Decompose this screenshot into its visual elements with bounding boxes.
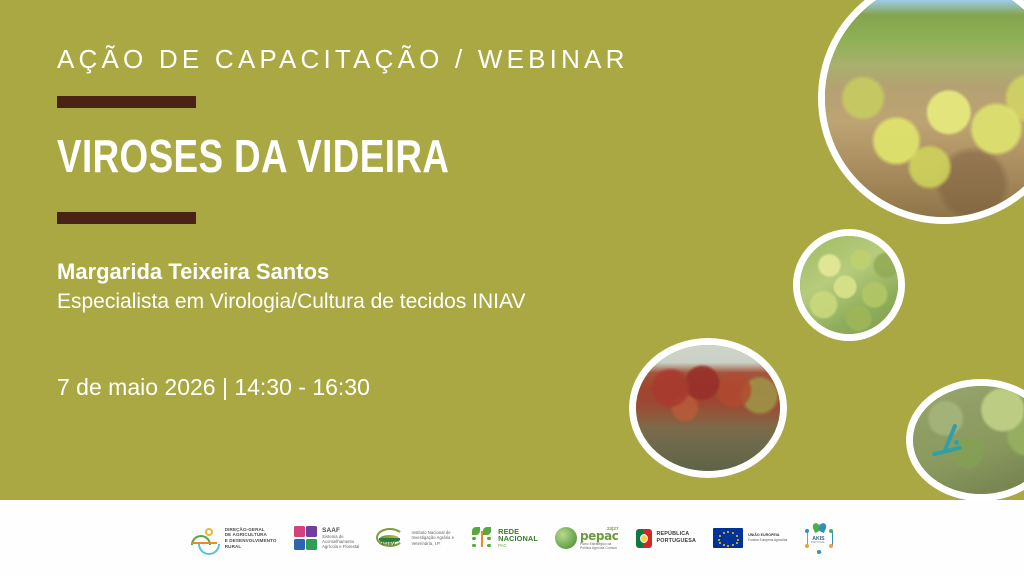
- dgadr-wordmark: DIREÇÃO-GERAL DE AGRICULTURA E DESENVOLV…: [225, 527, 277, 549]
- dgadr-line-3: E DESENVOLVIMENTO: [225, 538, 277, 544]
- logo-akis: AKIS PORTUGAL: [804, 523, 834, 553]
- dgadr-line-4: RURAL: [225, 544, 277, 550]
- logo-uniao-europeia: UNIÃO EUROPEIA Fundos Europeus Agrícolas: [713, 528, 787, 548]
- logo-saaf: SAAF Sistema de Aconselhamento Agrícola …: [294, 526, 360, 550]
- photo-mottled-leaf: [793, 229, 905, 341]
- rede-nacional-wordmark: REDE NACIONAL PAC: [498, 528, 538, 549]
- webinar-poster: AÇÃO DE CAPACITAÇÃO / WEBINAR VIROSES DA…: [0, 0, 1024, 576]
- poster-kicker: AÇÃO DE CAPACITAÇÃO / WEBINAR: [57, 44, 629, 75]
- eu-wordmark: UNIÃO EUROPEIA Fundos Europeus Agrícolas: [748, 533, 787, 542]
- mottled-leaf-image: [800, 236, 898, 334]
- eu-sub: Fundos Europeus Agrícolas: [748, 538, 787, 543]
- dgadr-mark-icon: [190, 525, 220, 551]
- divider-rule-bottom: [57, 212, 196, 224]
- republica-portuguesa-wordmark: REPÚBLICA PORTUGUESA: [657, 531, 697, 544]
- hero-band: AÇÃO DE CAPACITAÇÃO / WEBINAR VIROSES DA…: [0, 0, 1024, 500]
- rede-sub: PAC: [498, 543, 538, 548]
- eu-flag-icon: [713, 528, 743, 548]
- logo-republica-portuguesa: REPÚBLICA PORTUGUESA: [636, 529, 697, 548]
- pepac-word: pepac: [580, 531, 619, 542]
- saaf-title: SAAF: [322, 527, 359, 534]
- photo-vine-shoot-tie: [906, 379, 1024, 500]
- rede-line-2: NACIONAL: [498, 535, 538, 543]
- poster-title: VIROSES DA VIDEIRA: [57, 130, 449, 182]
- pepac-globe-icon: [555, 527, 577, 549]
- akis-sub: PORTUGAL: [811, 541, 825, 544]
- iniav-mark-icon: iniav: [376, 526, 406, 550]
- event-datetime: 7 de maio 2026 | 14:30 - 16:30: [57, 374, 370, 401]
- logo-iniav: iniav Instituto Nacional de Investigação…: [376, 526, 454, 550]
- iniav-wordmark: Instituto Nacional de Investigação Agrár…: [411, 530, 454, 545]
- logo-row: DIREÇÃO-GERAL DE AGRICULTURA E DESENVOLV…: [0, 500, 1024, 576]
- logo-rede-nacional: REDE NACIONAL PAC: [471, 526, 538, 550]
- saaf-line-3: Agrícola e Florestal: [322, 544, 359, 549]
- rp-line-1: REPÚBLICA: [657, 531, 697, 538]
- footer-logo-bar: DIREÇÃO-GERAL DE AGRICULTURA E DESENVOLV…: [0, 500, 1024, 576]
- divider-rule-top: [57, 96, 196, 108]
- speaker-role: Especialista em Virologia/Cultura de tec…: [57, 290, 525, 314]
- iniav-mark-text: iniav: [381, 541, 395, 547]
- logo-dgadr: DIREÇÃO-GERAL DE AGRICULTURA E DESENVOLV…: [190, 525, 277, 551]
- logo-pepac: 23|27 pepac Plano Estratégico da Polític…: [555, 526, 619, 550]
- akis-hexagon-icon: AKIS PORTUGAL: [804, 523, 834, 553]
- photo-autumn-red-vineyard: [629, 338, 787, 478]
- saaf-wordmark: SAAF Sistema de Aconselhamento Agrícola …: [322, 527, 359, 550]
- iniav-line-3: Veterinária, I.P.: [411, 541, 454, 546]
- republica-portuguesa-shield-icon: [636, 529, 652, 548]
- vineyard-yellowing-image: [825, 0, 1024, 217]
- saaf-squares-icon: [294, 526, 318, 550]
- vine-shoot-image: [913, 386, 1024, 494]
- iniav-line-2: Investigação Agrária e: [411, 535, 454, 540]
- autumn-red-vineyard-image: [636, 345, 780, 471]
- pepac-wordmark: 23|27 pepac Plano Estratégico da Polític…: [580, 526, 619, 550]
- speaker-name: Margarida Teixeira Santos: [57, 259, 329, 285]
- pepac-line-2: Política Agrícola Comum: [580, 546, 619, 550]
- rp-line-2: PORTUGUESA: [657, 538, 697, 545]
- rede-nacional-plant-icon: [471, 526, 493, 550]
- photo-vineyard-yellowing: [818, 0, 1024, 224]
